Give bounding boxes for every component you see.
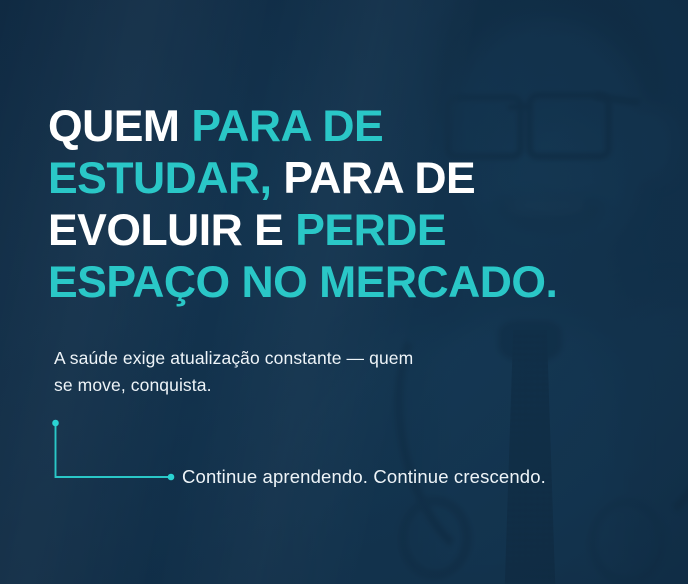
headline-text-white: QUEM [48,102,191,151]
headline-line-4: ESPAÇO NO MERCADO. [48,257,662,309]
l-shaped-connector-line [44,412,184,492]
banner-content: QUEM PARA DE ESTUDAR, PARA DE EVOLUIR E … [0,0,688,584]
subtitle-line-2: se move, conquista. [54,372,554,399]
connector-end-dot-icon [168,474,175,481]
headline-text-white: EVOLUIR E [48,206,295,255]
headline-text-accent: ESPAÇO NO MERCADO. [48,258,557,307]
headline-line-3: EVOLUIR E PERDE [48,205,662,257]
headline-text-white: PARA DE [271,154,475,203]
subtitle: A saúde exige atualização constante — qu… [54,345,554,399]
headline-text-accent: PARA DE [191,102,383,151]
headline-line-2: ESTUDAR, PARA DE [48,153,662,205]
headline-line-1: QUEM PARA DE [48,101,662,153]
subtitle-line-1: A saúde exige atualização constante — qu… [54,345,554,372]
headline: QUEM PARA DE ESTUDAR, PARA DE EVOLUIR E … [48,101,662,309]
social-media-banner: QUEM PARA DE ESTUDAR, PARA DE EVOLUIR E … [0,0,688,584]
tagline: Continue aprendendo. Continue crescendo. [182,464,546,490]
connector-start-dot-icon [52,420,59,427]
connector-path [56,424,172,477]
headline-text-accent: ESTUDAR, [48,154,271,203]
headline-text-accent: PERDE [295,206,446,255]
